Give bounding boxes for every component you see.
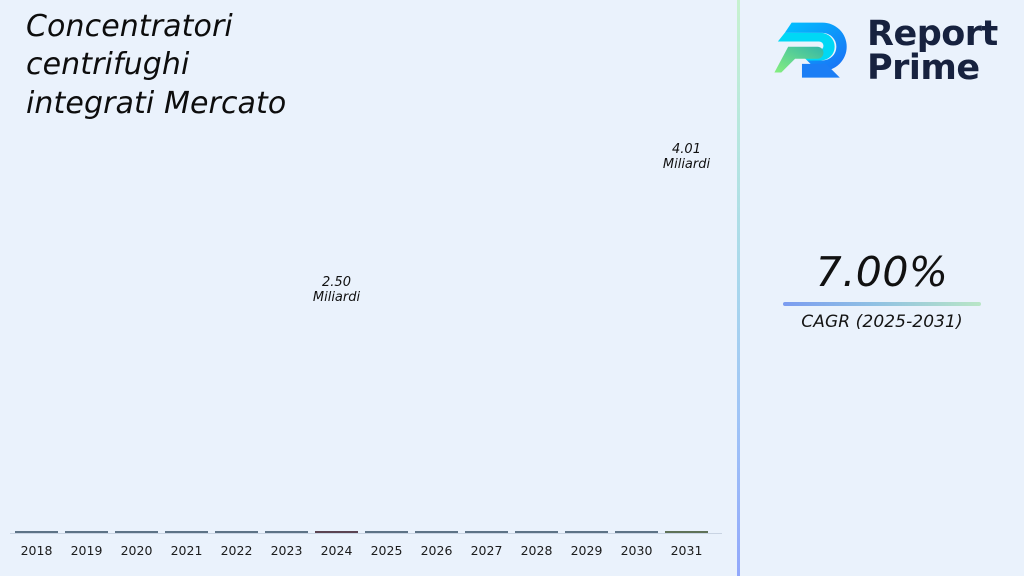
bar-2021[interactable] xyxy=(165,393,208,533)
bar-2024[interactable]: 2.50 Miliardi xyxy=(315,312,358,533)
cagr-divider-rule xyxy=(783,302,981,306)
bar-rect-2031 xyxy=(665,531,708,533)
chart-panel: Concentratori centrifughi integrati Merc… xyxy=(0,0,738,576)
cagr-value: 7.00% xyxy=(740,252,1024,293)
bar-2031[interactable]: 4.01 Miliardi xyxy=(665,179,708,533)
bar-2028[interactable] xyxy=(515,246,558,533)
bar-2023[interactable] xyxy=(265,321,308,533)
bar-rect-2025 xyxy=(365,531,408,533)
bar-rect-2023 xyxy=(265,531,308,533)
bar-2026[interactable] xyxy=(415,280,458,533)
bar-2025[interactable] xyxy=(365,295,408,533)
summary-panel: Report Prime 7.00% CAGR (2025-2031) xyxy=(740,0,1024,576)
bar-chart: 2.50 Miliardi4.01 Miliardi 2018201920202… xyxy=(0,0,738,576)
bar-rect-2030 xyxy=(615,531,658,533)
bar-value-label-2031: 4.01 Miliardi xyxy=(642,142,732,173)
x-axis-line xyxy=(10,533,722,534)
bar-rect-2028 xyxy=(515,531,558,533)
bar-2022[interactable] xyxy=(215,363,258,533)
cagr-label: CAGR (2025-2031) xyxy=(740,312,1024,332)
cagr-block: 7.00% CAGR (2025-2031) xyxy=(740,252,1024,332)
brand-name: Report Prime xyxy=(867,17,998,86)
brand-name-line1: Report xyxy=(867,17,998,51)
bar-2027[interactable] xyxy=(465,264,508,533)
screenshot-root: Concentratori centrifughi integrati Merc… xyxy=(0,0,1024,576)
bar-2030[interactable] xyxy=(615,212,658,533)
brand-name-line2: Prime xyxy=(867,51,998,85)
bar-rect-2018 xyxy=(15,531,58,533)
bar-rect-2021 xyxy=(165,531,208,533)
bar-rect-2027 xyxy=(465,531,508,533)
bar-rect-2024 xyxy=(315,531,358,533)
bar-rect-2029 xyxy=(565,531,608,533)
bar-2019[interactable] xyxy=(65,454,108,533)
bar-rect-2026 xyxy=(415,531,458,533)
report-prime-logo-icon xyxy=(772,14,856,88)
brand-logo: Report Prime xyxy=(772,14,998,88)
bar-rect-2020 xyxy=(115,531,158,533)
bar-2018[interactable] xyxy=(15,378,58,533)
bar-rect-2022 xyxy=(215,531,258,533)
bar-2029[interactable] xyxy=(565,233,608,533)
bar-rect-2019 xyxy=(65,531,108,533)
x-axis-label-2031: 2031 xyxy=(657,543,717,558)
bar-2020[interactable] xyxy=(115,436,158,533)
